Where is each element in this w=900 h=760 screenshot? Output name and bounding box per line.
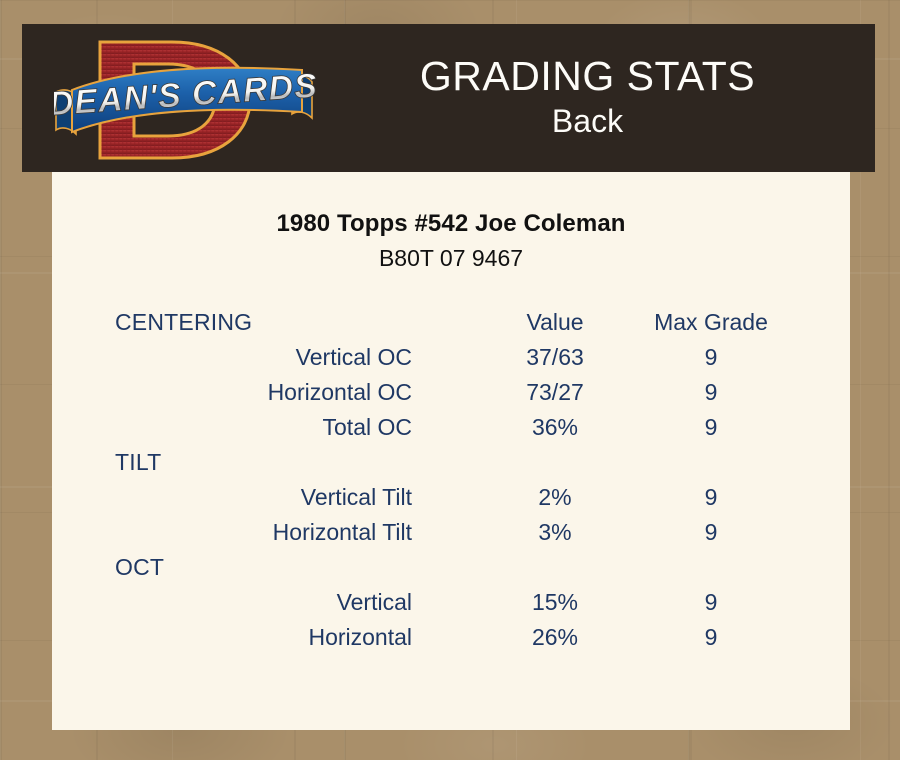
column-header-centering: CENTERING: [115, 305, 475, 340]
row-value: 3%: [475, 515, 635, 550]
row-grade: 9: [635, 410, 787, 445]
section-header-tilt: TILT: [115, 445, 475, 480]
row-grade: 9: [635, 620, 787, 655]
table-header: CENTERING Value Max Grade: [115, 305, 787, 340]
card-title: 1980 Topps #542 Joe Coleman: [52, 210, 850, 238]
row-value: 26%: [475, 620, 635, 655]
row-grade: 9: [635, 515, 787, 550]
table-body: Vertical OC 37/63 9 Horizontal OC 73/27 …: [115, 340, 787, 655]
deans-cards-logo[interactable]: DEAN'S CARDS: [54, 30, 316, 170]
row-grade: 9: [635, 585, 787, 620]
table-row: Horizontal Tilt 3% 9: [115, 515, 787, 550]
column-header-value: Value: [475, 305, 635, 340]
table-row: Vertical 15% 9: [115, 585, 787, 620]
row-label: Vertical OC: [115, 340, 475, 375]
grading-stats-table: CENTERING Value Max Grade Vertical OC 37…: [115, 305, 787, 655]
column-header-max-grade: Max Grade: [635, 305, 787, 340]
section-header-oct: OCT: [115, 550, 475, 585]
row-grade: 9: [635, 375, 787, 410]
table-row: Horizontal 26% 9: [115, 620, 787, 655]
table-row: Horizontal OC 73/27 9: [115, 375, 787, 410]
row-label: Vertical Tilt: [115, 480, 475, 515]
table-row: Vertical OC 37/63 9: [115, 340, 787, 375]
page-title: GRADING STATS: [420, 55, 755, 99]
section-spacer: [475, 550, 635, 585]
row-grade: 9: [635, 340, 787, 375]
section-spacer: [475, 445, 635, 480]
card-serial-number: B80T 07 9467: [52, 245, 850, 272]
header-band: DEAN'S CARDS GRADING STATS Back: [22, 24, 875, 172]
row-label: Horizontal OC: [115, 375, 475, 410]
header-titles: GRADING STATS Back: [322, 24, 875, 172]
row-label: Horizontal Tilt: [115, 515, 475, 550]
table-header-row: CENTERING Value Max Grade: [115, 305, 787, 340]
section-header-row: TILT: [115, 445, 787, 480]
row-grade: 9: [635, 480, 787, 515]
row-value: 2%: [475, 480, 635, 515]
row-label: Horizontal: [115, 620, 475, 655]
page-subtitle: Back: [552, 101, 623, 141]
row-value: 36%: [475, 410, 635, 445]
row-value: 73/27: [475, 375, 635, 410]
row-label: Vertical: [115, 585, 475, 620]
row-value: 37/63: [475, 340, 635, 375]
content-panel: 1980 Topps #542 Joe Coleman B80T 07 9467…: [52, 172, 850, 730]
section-spacer: [635, 445, 787, 480]
logo-icon: DEAN'S CARDS: [54, 30, 316, 170]
section-spacer: [635, 550, 787, 585]
table-row: Vertical Tilt 2% 9: [115, 480, 787, 515]
row-value: 15%: [475, 585, 635, 620]
section-header-row: OCT: [115, 550, 787, 585]
row-label: Total OC: [115, 410, 475, 445]
table-row: Total OC 36% 9: [115, 410, 787, 445]
